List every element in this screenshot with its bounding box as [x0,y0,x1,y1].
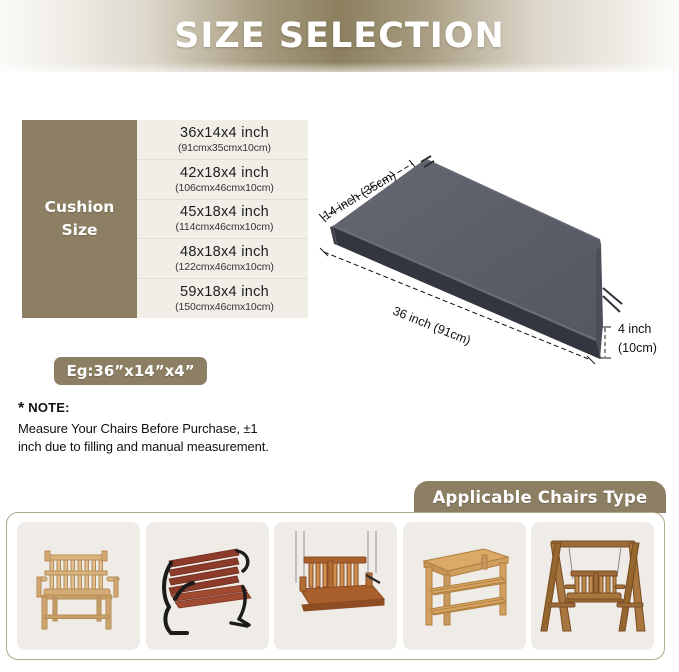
size-table-label-line2: Size [61,219,97,242]
chair-tile [403,522,526,650]
table-row: 45x18x4 inch (114cmx46cmx10cm) [137,200,308,240]
note-heading-text: NOTE: [28,400,69,415]
size-cm: (150cmx46cmx10cm) [175,301,274,313]
chair-tile [17,522,140,650]
note-line-1: Measure Your Chairs Before Purchase, ±1 [18,420,318,438]
chair-tile [531,522,654,650]
table-row: 59x18x4 inch (150cmx46cmx10cm) [137,279,308,318]
applicable-chairs-panel [6,512,665,660]
size-table-label: Cushion Size [22,120,137,318]
asterisk-icon: * [18,400,24,417]
size-inch: 59x18x4 inch [180,284,269,300]
cushion-diagram: 14 inch (35cm) 36 inch (91cm) 4 inch (10… [300,128,679,380]
wooden-shoe-rack-bench-icon [408,527,520,645]
size-inch: 45x18x4 inch [180,204,269,220]
length-dimension-label: 36 inch (91cm) [391,304,473,348]
table-row: 36x14x4 inch (91cmx35cmx10cm) [137,120,308,160]
note-block: * NOTE: Measure Your Chairs Before Purch… [18,400,318,455]
banner-fade [0,62,679,84]
note-line-2: inch due to filling and manual measureme… [18,438,318,456]
size-table: Cushion Size 36x14x4 inch (91cmx35cmx10c… [22,120,308,318]
table-row: 48x18x4 inch (122cmx46cmx10cm) [137,239,308,279]
height-dimension-label-line2: (10cm) [618,341,657,355]
wooden-garden-bench-icon [23,527,135,645]
size-inch: 42x18x4 inch [180,165,269,181]
note-heading: * NOTE: [18,400,318,418]
page-title: SIZE SELECTION [0,16,679,56]
park-bench-cast-iron-icon [151,527,263,645]
size-inch: 36x14x4 inch [180,125,269,141]
applicable-chairs-tab: Applicable Chairs Type [414,481,666,513]
size-cm: (122cmx46cmx10cm) [175,261,274,273]
size-cm: (106cmx46cmx10cm) [175,182,274,194]
hanging-porch-swing-icon [280,527,392,645]
chair-tile [274,522,397,650]
size-cm: (91cmx35cmx10cm) [178,142,271,154]
size-table-label-line1: Cushion [45,196,115,219]
size-cm: (114cmx46cmx10cm) [176,221,274,233]
chair-tile [146,522,269,650]
size-inch: 48x18x4 inch [180,244,269,260]
height-dimension-label-line1: 4 inch [618,322,651,336]
table-row: 42x18x4 inch (106cmx46cmx10cm) [137,160,308,200]
example-size-badge: Eg:36”x14”x4” [54,357,207,385]
size-table-rows: 36x14x4 inch (91cmx35cmx10cm) 42x18x4 in… [137,120,308,318]
a-frame-garden-swing-icon [537,527,649,645]
